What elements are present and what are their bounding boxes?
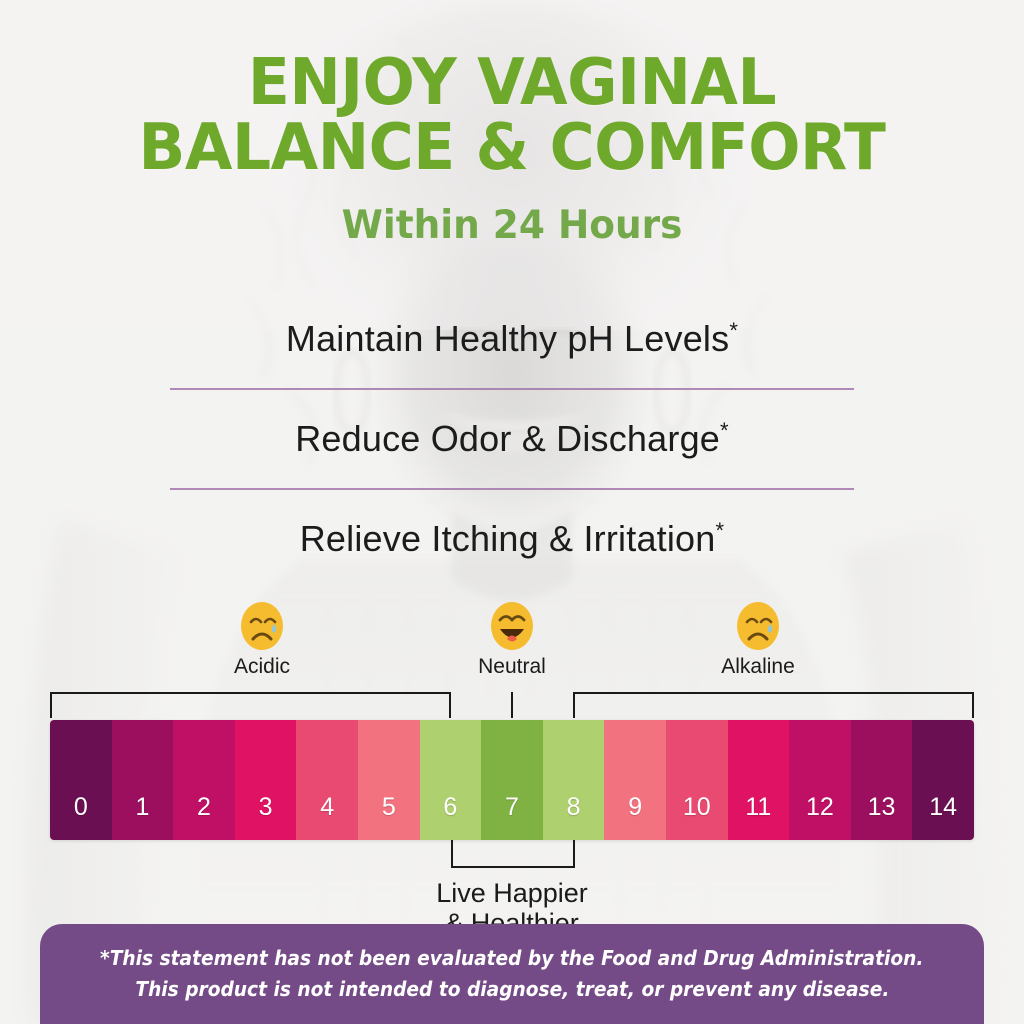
- ph-band-4: 4: [296, 720, 358, 840]
- ph-band-14: 14: [912, 720, 974, 840]
- ph-band-12: 12: [789, 720, 851, 840]
- ph-range-bracket-bottom: [50, 840, 974, 870]
- bracket-optimal-range: [451, 840, 575, 868]
- ph-scale-section: Acidic Neutral: [50, 600, 974, 938]
- ph-mood-row: Acidic Neutral: [50, 600, 974, 692]
- benefit-divider-2: [170, 488, 854, 490]
- ph-band-value-5: 5: [358, 793, 420, 822]
- ph-band-3: 3: [235, 720, 297, 840]
- benefits-list: Maintain Healthy pH Levels* Reduce Odor …: [170, 304, 854, 574]
- ph-band-7: 7: [481, 720, 543, 840]
- ph-band-value-0: 0: [50, 793, 112, 822]
- ph-mood-alkaline: Alkaline: [678, 600, 838, 679]
- ph-band-8: 8: [543, 720, 605, 840]
- ph-mood-neutral: Neutral: [432, 600, 592, 679]
- grinning-face-icon: [488, 600, 536, 652]
- ph-band-value-13: 13: [851, 793, 913, 822]
- bracket-acidic: [50, 692, 451, 718]
- ph-band-11: 11: [728, 720, 790, 840]
- benefit-item-3: Relieve Itching & Irritation*: [170, 504, 854, 574]
- sad-face-with-tear-icon: [238, 600, 286, 652]
- ph-band-value-12: 12: [789, 793, 851, 822]
- tick-neutral: [511, 692, 513, 718]
- ph-mood-acidic: Acidic: [182, 600, 342, 679]
- benefit-divider-1: [170, 388, 854, 390]
- ph-mood-label-neutral: Neutral: [432, 655, 592, 679]
- benefit-item-1: Maintain Healthy pH Levels*: [170, 304, 854, 374]
- benefit-asterisk-2: *: [720, 418, 729, 443]
- benefit-asterisk-3: *: [716, 518, 725, 543]
- ph-band-10: 10: [666, 720, 728, 840]
- benefit-label-3: Relieve Itching & Irritation: [300, 518, 716, 559]
- disclaimer-line-1: *This statement has not been evaluated b…: [100, 943, 923, 974]
- ph-color-scale: 0 1 2 3 4 5 6 7 8 9 10 11 12 13 14: [50, 720, 974, 840]
- ph-band-2: 2: [173, 720, 235, 840]
- headline-block: ENJOY VAGINAL BALANCE & COMFORT Within 2…: [0, 52, 1024, 248]
- disclaimer-banner: *This statement has not been evaluated b…: [40, 924, 984, 1024]
- ph-band-9: 9: [604, 720, 666, 840]
- ph-mood-label-alkaline: Alkaline: [678, 655, 838, 679]
- bracket-alkaline: [573, 692, 974, 718]
- ph-band-5: 5: [358, 720, 420, 840]
- sad-face-with-tear-icon: [734, 600, 782, 652]
- infographic-canvas: ENJOY VAGINAL BALANCE & COMFORT Within 2…: [0, 0, 1024, 1024]
- ph-band-value-2: 2: [173, 793, 235, 822]
- ph-band-value-1: 1: [112, 793, 174, 822]
- ph-optimal-line-1: Live Happier: [50, 878, 974, 908]
- headline-subline: Within 24 Hours: [20, 203, 1003, 248]
- benefit-item-2: Reduce Odor & Discharge*: [170, 404, 854, 474]
- benefit-label-1: Maintain Healthy pH Levels: [286, 318, 729, 359]
- ph-band-1: 1: [112, 720, 174, 840]
- ph-band-value-4: 4: [296, 793, 358, 822]
- disclaimer-line-2: This product is not intended to diagnose…: [135, 974, 889, 1005]
- ph-band-value-9: 9: [604, 793, 666, 822]
- benefit-label-2: Reduce Odor & Discharge: [295, 418, 720, 459]
- ph-band-0: 0: [50, 720, 112, 840]
- ph-band-13: 13: [851, 720, 913, 840]
- ph-range-brackets-top: [50, 692, 974, 720]
- ph-band-value-10: 10: [666, 793, 728, 822]
- headline-line-2: BALANCE & COMFORT: [20, 117, 1003, 180]
- ph-mood-label-acidic: Acidic: [182, 655, 342, 679]
- ph-band-value-3: 3: [235, 793, 297, 822]
- headline-line-1: ENJOY VAGINAL: [248, 46, 776, 120]
- benefit-asterisk-1: *: [729, 318, 738, 343]
- ph-band-value-8: 8: [543, 793, 605, 822]
- ph-band-value-6: 6: [420, 793, 482, 822]
- ph-band-value-14: 14: [912, 793, 974, 822]
- ph-band-value-7: 7: [481, 793, 543, 822]
- ph-band-6: 6: [420, 720, 482, 840]
- ph-band-value-11: 11: [728, 793, 790, 822]
- page-title: ENJOY VAGINAL BALANCE & COMFORT: [20, 52, 1003, 181]
